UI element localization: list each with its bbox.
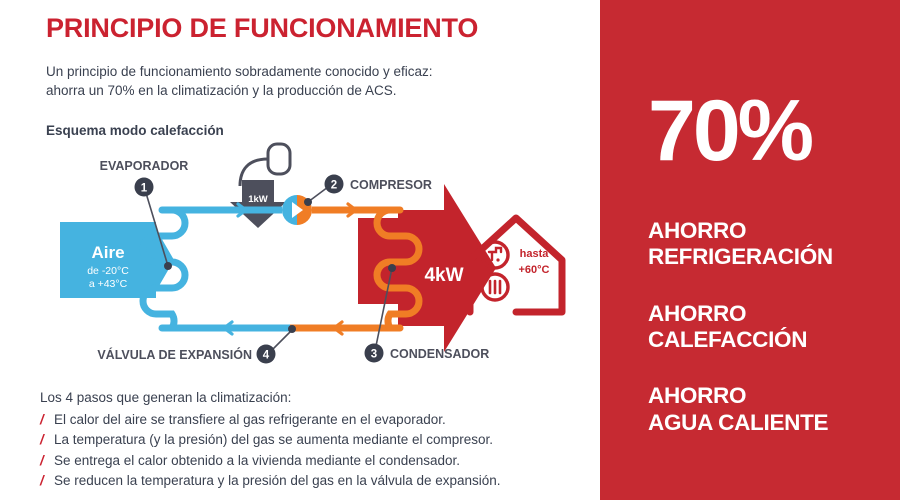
steps-lead: Los 4 pasos que generan la climatización… [40,388,585,409]
intro-paragraph: Un principio de funcionamiento sobradame… [46,62,516,101]
bullet-marker: / [40,430,54,451]
svg-text:2: 2 [331,180,337,192]
list-item: / Se reducen la temperatura y la presión… [40,471,585,492]
step-text: Se entrega el calor obtenido a la vivien… [54,451,585,472]
claim-line-1: AHORRO [648,218,898,244]
scheme-heading: Esquema modo calefacción [46,123,600,138]
input-power-label: 1kW [248,194,268,205]
list-item: / El calor del aire se transfiere al gas… [40,410,585,431]
air-range-line-1: de -20°C [87,265,129,277]
svg-text:4: 4 [263,350,270,362]
claim-refrigeracion: AHORRO REFRIGERACIÓN [648,218,898,271]
savings-claims: AHORRO REFRIGERACIÓN AHORRO CALEFACCIÓN … [648,218,898,436]
badge-1: 1 [135,178,154,197]
bullet-marker: / [40,451,54,472]
step-text: La temperatura (y la presión) del gas se… [54,430,585,451]
left-panel: PRINCIPIO DE FUNCIONAMIENTO Un principio… [0,0,600,500]
claim-agua-caliente: AHORRO AGUA CALIENTE [648,383,898,436]
list-item: / La temperatura (y la presión) del gas … [40,430,585,451]
infographic-page: PRINCIPIO DE FUNCIONAMIENTO Un principio… [0,0,900,500]
claim-line-1: AHORRO [648,301,898,327]
badge-2: 2 [325,175,344,194]
bullet-marker: / [40,410,54,431]
claim-line-1: AHORRO [648,383,898,409]
evaporator-label: EVAPORADOR [100,159,189,173]
flow-arrow-top-orange [336,204,356,216]
savings-panel: 70% AHORRO REFRIGERACIÓN AHORRO CALEFACC… [600,0,900,500]
svg-text:1: 1 [141,183,148,195]
step-text: El calor del aire se transfiere al gas r… [54,410,585,431]
heat-pump-diagram: 1kW [40,140,585,375]
steps-list: Los 4 pasos que generan la climatización… [40,388,585,492]
bullet-marker: / [40,471,54,492]
condenser-label: CONDENSADOR [390,347,489,361]
air-range-line-2: a +43°C [89,278,128,290]
claim-calefaccion: AHORRO CALEFACCIÓN [648,301,898,354]
output-power-label: 4kW [424,265,463,286]
claim-line-2: AGUA CALIENTE [648,410,898,436]
house-temp-line-1: hasta [520,248,550,260]
badge-4: 4 [257,345,276,364]
expansion-valve-label: VÁLVULA DE EXPANSIÓN [97,347,252,362]
house-temp-line-2: +60°C [518,264,549,276]
page-title: PRINCIPIO DE FUNCIONAMIENTO [46,14,600,44]
intro-line-1: Un principio de funcionamiento sobradame… [46,62,516,82]
intro-line-2: ahorra un 70% en la climatización y la p… [46,81,516,101]
house-radiator-icon [482,274,508,300]
claim-line-2: REFRIGERACIÓN [648,244,898,270]
claim-line-2: CALEFACCIÓN [648,327,898,353]
svg-text:3: 3 [371,349,377,361]
list-item: / Se entrega el calor obtenido a la vivi… [40,451,585,472]
flow-arrow-bottom-orange [334,322,354,334]
air-title: Aire [91,243,124,262]
badge-3: 3 [365,344,384,363]
step-text: Se reducen la temperatura y la presión d… [54,471,585,492]
savings-percentage: 70% [648,88,811,174]
compressor-label: COMPRESOR [350,178,432,192]
flow-arrow-bottom-blue [224,322,244,334]
